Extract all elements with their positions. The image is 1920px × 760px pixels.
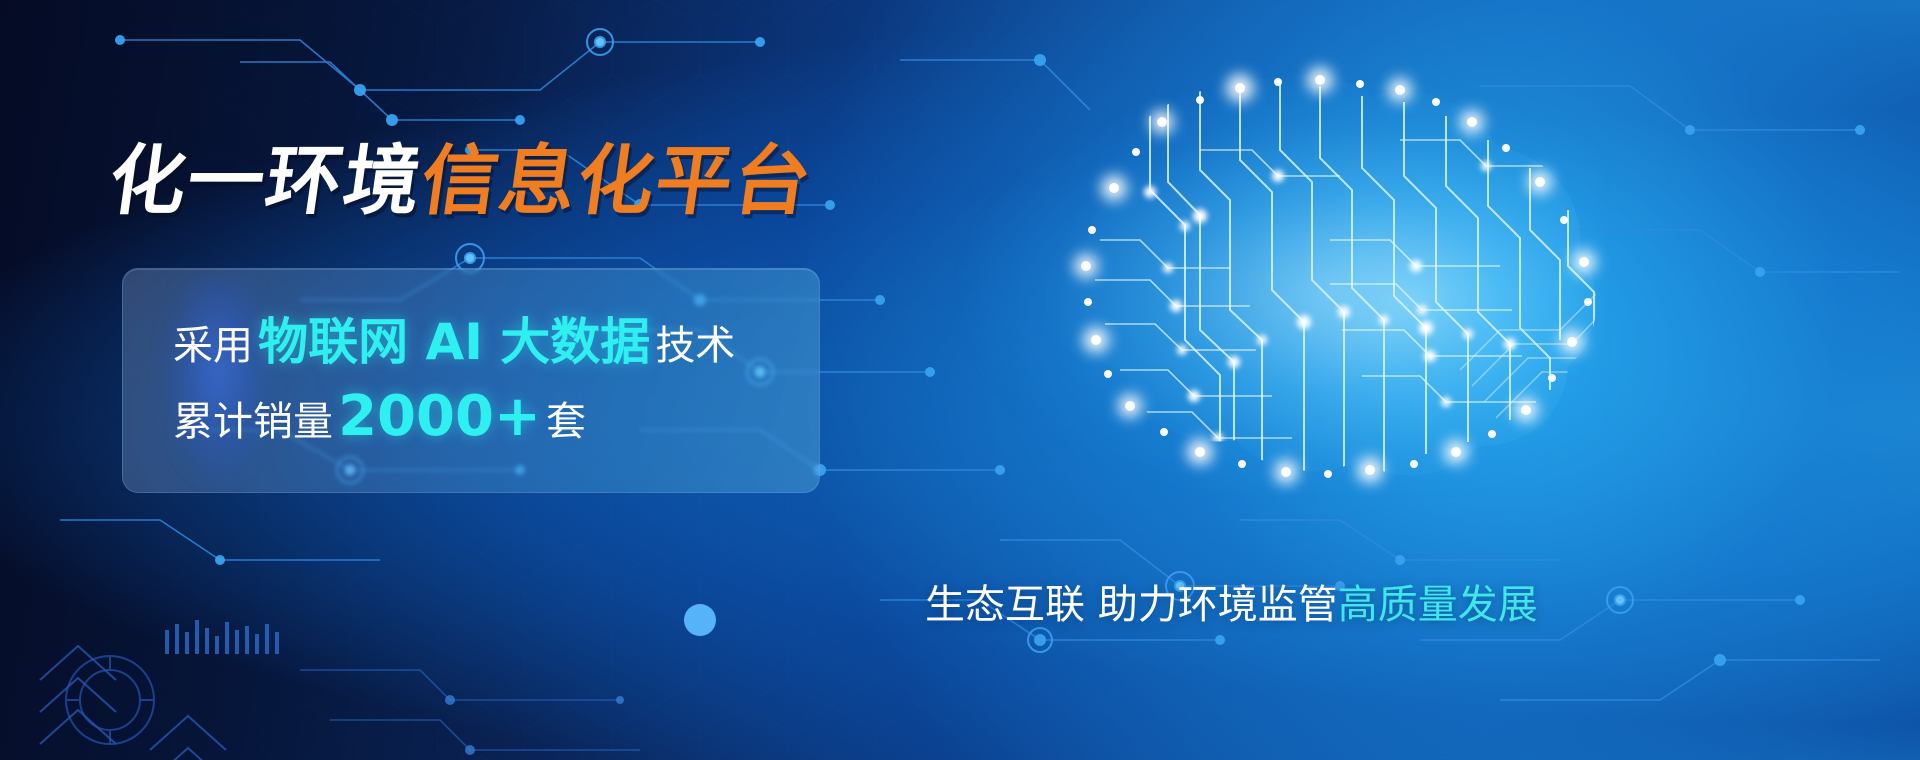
feature-line2-prefix: 累计销量 — [173, 399, 333, 445]
feature-line1-suffix: 技术 — [655, 323, 735, 369]
feature-line1-highlight: 物联网 AI 大数据 — [258, 313, 650, 371]
feature-card: 采用 物联网 AI 大数据 技术 累计销量 2000+ 套 — [122, 268, 820, 493]
tagline: 生态互联 助力环境监管高质量发展 — [925, 585, 1538, 625]
feature-line-technology: 采用 物联网 AI 大数据 技术 — [173, 317, 819, 367]
feature-line2-suffix: 套 — [546, 399, 586, 445]
page-title-accent: 信息化平台 — [416, 136, 819, 225]
tagline-accent: 高质量发展 — [1338, 582, 1538, 628]
page-title: 化一环境信息化平台 — [105, 143, 818, 219]
promo-banner: 化一环境信息化平台 采用 物联网 AI 大数据 技术 累计销量 2000+ 套 … — [0, 0, 1920, 760]
tagline-primary: 生态互联 助力环境监管 — [925, 582, 1338, 628]
hud-arrows-decoration — [0, 520, 860, 760]
page-title-primary: 化一环境 — [104, 136, 429, 225]
feature-line1-prefix: 采用 — [173, 323, 253, 369]
brain-glow — [960, 80, 1600, 490]
circuit-brain-illustration — [900, 40, 1660, 520]
sales-count: 2000+ — [338, 384, 541, 449]
feature-line-sales: 累计销量 2000+ 套 — [173, 389, 819, 445]
